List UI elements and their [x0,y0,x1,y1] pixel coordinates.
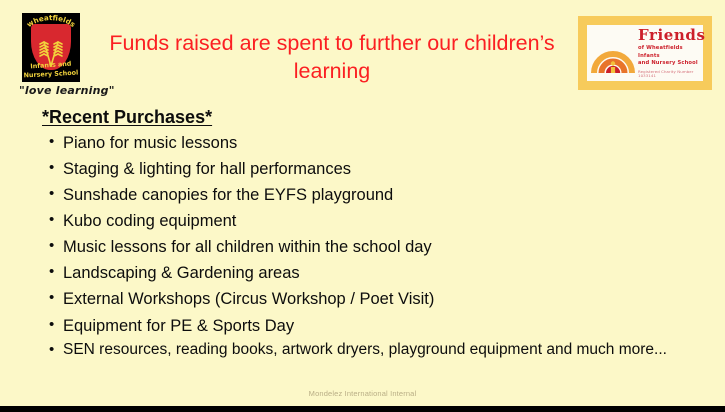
list-item-text: Music lessons for all children within th… [63,238,432,256]
bullet-icon: • [49,183,54,206]
list-item-text: Sunshade canopies for the EYFS playgroun… [63,186,393,204]
school-name-arc: wheatfields [22,14,80,32]
list-item: •Staging & lighting for hall performance… [47,157,707,182]
friends-title: Friends [638,28,706,44]
wheatfields-school-logo: wheatfields Infants and Nursery School [22,13,80,82]
bullet-icon: • [49,235,54,258]
purchases-list: •Piano for music lessons •Staging & ligh… [47,131,707,360]
list-item: •Sunshade canopies for the EYFS playgrou… [47,183,707,208]
bottom-black-bar [0,406,725,412]
friends-subtitle-line2: and Nursery School [638,60,706,68]
presentation-slide: wheatfields Infants and Nursery School "… [0,0,725,412]
list-item-text: Kubo coding equipment [63,212,236,230]
list-item: •Landscaping & Gardening areas [47,261,707,286]
list-item: •Kubo coding equipment [47,209,707,234]
list-item: •Piano for music lessons [47,131,707,156]
bullet-icon: • [49,341,54,359]
bullet-icon: • [49,157,54,180]
bullet-icon: • [49,209,54,232]
friends-logo-text: Friends of Wheatfields Infants and Nurse… [638,28,706,78]
recent-purchases-heading: *Recent Purchases* [42,107,212,128]
bullet-icon: • [49,131,54,154]
bullet-icon: • [49,261,54,284]
school-name-line2: Nursery School [23,69,78,80]
list-item-text: Landscaping & Gardening areas [63,264,300,282]
friends-logo-panel: Friends of Wheatfields Infants and Nurse… [587,25,703,81]
slide-title: Funds raised are spent to further our ch… [98,30,566,85]
friends-of-wheatfields-logo: Friends of Wheatfields Infants and Nurse… [578,16,712,90]
list-item-text: Piano for music lessons [63,134,237,152]
friends-subtitle-line1: of Wheatfields Infants [638,45,706,60]
list-item-text: SEN resources, reading books, artwork dr… [63,341,667,358]
list-item: •SEN resources, reading books, artwork d… [47,341,707,359]
friends-charity-number: Registered Charity Number 1033141 [638,70,706,78]
list-item: •External Workshops (Circus Workshop / P… [47,287,707,312]
list-item: •Music lessons for all children within t… [47,235,707,260]
list-item-text: Staging & lighting for hall performances [63,160,351,178]
school-motto: "love learning" [19,84,103,97]
list-item-text: Equipment for PE & Sports Day [63,317,294,335]
bullet-icon: • [49,314,54,337]
list-item: •Equipment for PE & Sports Day [47,314,707,339]
school-name-bottom: Infants and Nursery School [22,58,80,80]
confidentiality-footer: Mondelez International Internal [0,389,725,398]
rainbow-icon [590,31,636,75]
list-item-text: External Workshops (Circus Workshop / Po… [63,290,434,308]
school-name-top: wheatfields [25,14,77,29]
bullet-icon: • [49,287,54,310]
svg-text:wheatfields: wheatfields [25,14,77,29]
